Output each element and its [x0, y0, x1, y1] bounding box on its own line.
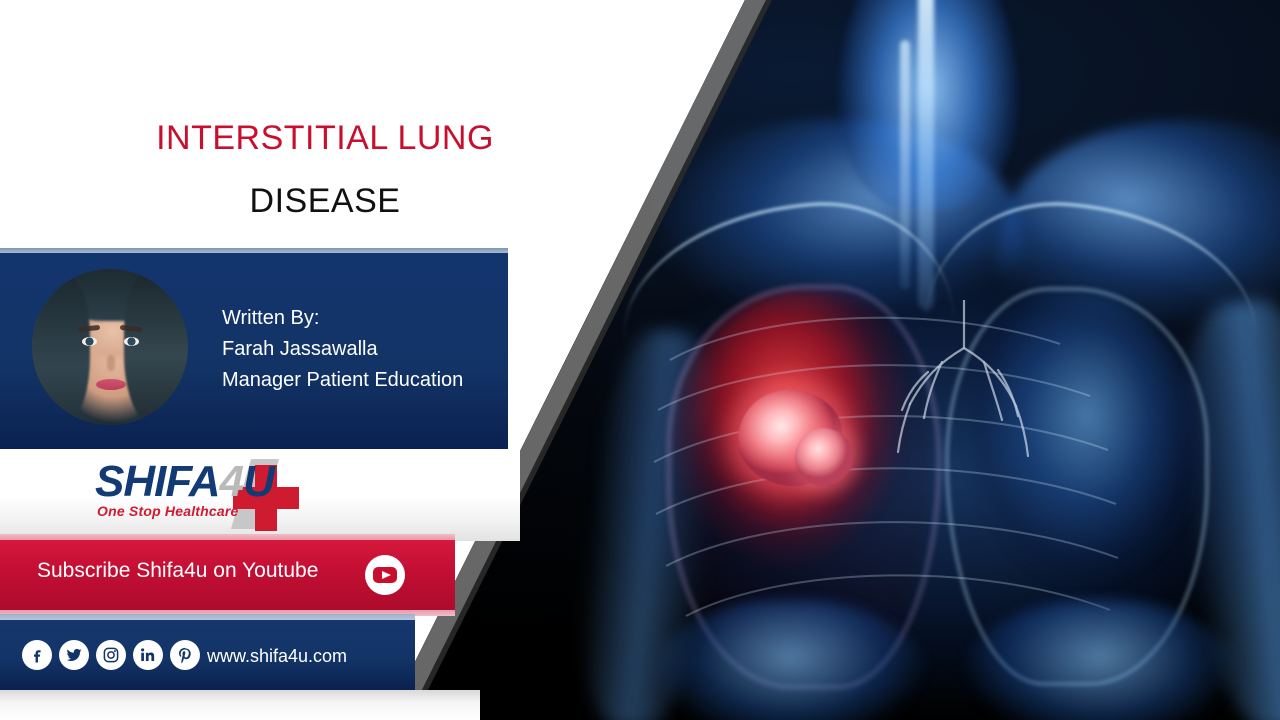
- author-name: Farah Jassawalla: [222, 334, 463, 365]
- facebook-icon[interactable]: [22, 640, 52, 670]
- avatar-hair-left: [32, 275, 90, 425]
- logo-band: SHIFA4U One Stop Healthcare: [0, 449, 520, 541]
- avatar-nose: [107, 355, 115, 371]
- bottom-strip: [0, 690, 480, 720]
- author-credit: Written By: Farah Jassawalla Manager Pat…: [222, 303, 463, 396]
- subscribe-label: Subscribe Shifa4u on Youtube: [37, 559, 318, 583]
- avatar-photo: [32, 269, 188, 425]
- shifa4u-logo[interactable]: SHIFA4U One Stop Healthcare: [95, 457, 345, 533]
- logo-tagline: One Stop Healthcare: [97, 503, 239, 519]
- youtube-icon[interactable]: [365, 555, 405, 595]
- avatar-eye-left: [82, 337, 97, 346]
- slide-canvas: INTERSTITIAL LUNG DISEASE Written By:: [0, 0, 1280, 720]
- logo-wordmark: SHIFA4U: [95, 457, 274, 507]
- left-panel: INTERSTITIAL LUNG DISEASE Written By:: [0, 0, 760, 720]
- avatar-eye-right: [124, 337, 139, 346]
- instagram-icon[interactable]: [96, 640, 126, 670]
- avatar: [32, 269, 188, 425]
- title-line-2: DISEASE: [0, 181, 650, 222]
- written-by-label: Written By:: [222, 303, 463, 334]
- linkedin-icon[interactable]: [133, 640, 163, 670]
- page-title: INTERSTITIAL LUNG DISEASE: [0, 118, 650, 223]
- footer-band: www.shifa4u.com: [0, 620, 415, 690]
- logo-brand-part2: U: [243, 457, 274, 506]
- twitter-icon[interactable]: [59, 640, 89, 670]
- logo-brand-number: 4: [220, 457, 243, 506]
- logo-brand-part1: SHIFA: [95, 457, 220, 506]
- tumor-mass-secondary: [795, 428, 853, 486]
- author-role: Manager Patient Education: [222, 365, 463, 396]
- avatar-lips: [96, 379, 126, 390]
- social-links: [22, 640, 200, 670]
- author-band: Written By: Farah Jassawalla Manager Pat…: [0, 253, 508, 449]
- title-line-1: INTERSTITIAL LUNG: [0, 118, 650, 159]
- pinterest-icon[interactable]: [170, 640, 200, 670]
- subscribe-band[interactable]: Subscribe Shifa4u on Youtube: [0, 540, 455, 610]
- youtube-icon-play: [382, 571, 391, 579]
- avatar-hair-right: [124, 269, 188, 425]
- website-url[interactable]: www.shifa4u.com: [207, 646, 347, 667]
